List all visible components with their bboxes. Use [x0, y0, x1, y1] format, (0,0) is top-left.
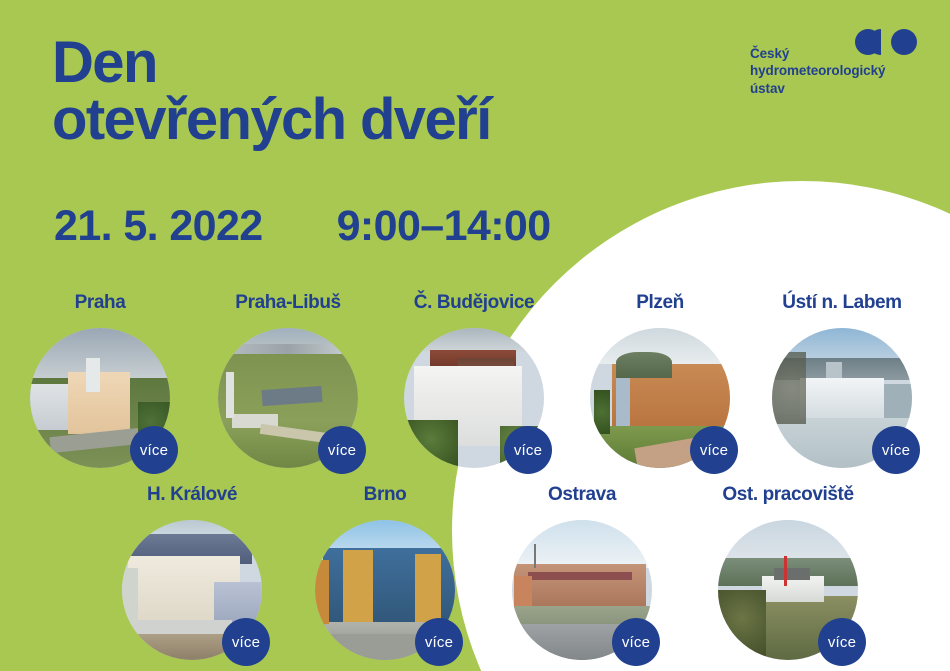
- location-card-ostatni-pracoviste[interactable]: Ost. pracoviště více: [718, 520, 858, 660]
- location-card-brno[interactable]: Brno více: [315, 520, 455, 660]
- location-label: Praha: [75, 292, 126, 314]
- location-label: Ost. pracoviště: [722, 484, 853, 506]
- more-button[interactable]: více: [612, 618, 660, 666]
- logo-text-line-2: hydrometeorologický: [750, 62, 885, 79]
- title-line-2: otevřených dveří: [52, 91, 752, 148]
- more-button[interactable]: více: [222, 618, 270, 666]
- chmu-logo-text: Český hydrometeorologický ústav: [750, 45, 885, 97]
- more-button[interactable]: více: [318, 426, 366, 474]
- title-line-1: Den: [52, 30, 157, 95]
- poster-canvas: Český hydrometeorologický ústav Den otev…: [0, 0, 950, 671]
- location-label: Č. Budějovice: [414, 292, 534, 314]
- more-button[interactable]: více: [690, 426, 738, 474]
- location-label: Praha-Libuš: [235, 292, 340, 314]
- location-label: Ústí n. Labem: [782, 292, 901, 314]
- event-date: 21. 5. 2022: [54, 202, 263, 250]
- location-label: Ostrava: [548, 484, 616, 506]
- location-label: H. Králové: [147, 484, 237, 506]
- location-card-praha-libus[interactable]: Praha-Libuš více: [218, 328, 358, 468]
- more-button[interactable]: více: [872, 426, 920, 474]
- logo-text-line-3: ústav: [750, 80, 885, 97]
- event-datetime: 21. 5. 20229:00–14:00: [54, 202, 551, 251]
- location-card-hradec-kralove[interactable]: H. Králové více: [122, 520, 262, 660]
- more-button[interactable]: více: [504, 426, 552, 474]
- logo-text-line-1: Český: [750, 45, 885, 62]
- location-label: Brno: [364, 484, 407, 506]
- location-card-praha[interactable]: Praha více: [30, 328, 170, 468]
- more-button[interactable]: více: [818, 618, 866, 666]
- location-card-ostrava[interactable]: Ostrava více: [512, 520, 652, 660]
- page-title: Den otevřených dveří: [52, 34, 752, 149]
- event-time: 9:00–14:00: [337, 202, 551, 250]
- more-button[interactable]: více: [415, 618, 463, 666]
- more-button[interactable]: více: [130, 426, 178, 474]
- location-card-plzen[interactable]: Plzeň více: [590, 328, 730, 468]
- location-card-ceske-budejovice[interactable]: Č. Budějovice více: [404, 328, 544, 468]
- location-card-usti-nad-labem[interactable]: Ústí n. Labem více: [772, 328, 912, 468]
- location-label: Plzeň: [636, 292, 684, 314]
